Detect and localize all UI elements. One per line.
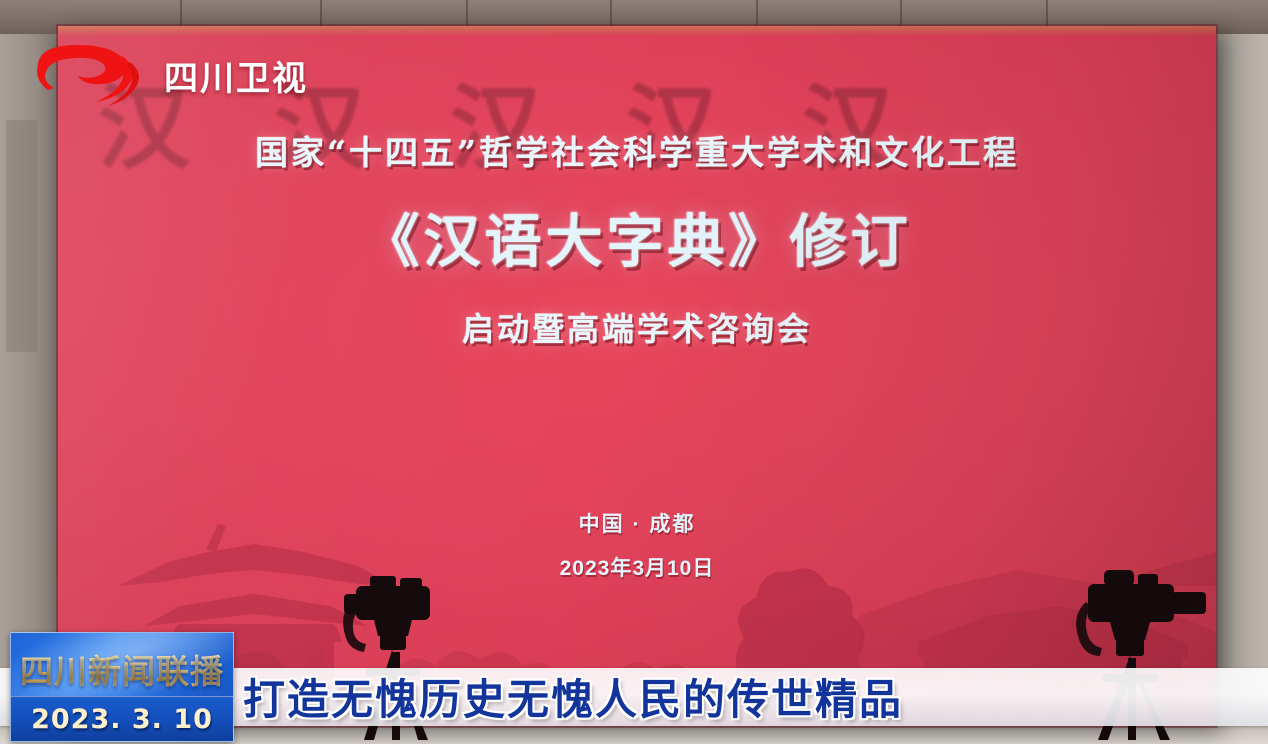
banner-date: 2023年3月10日	[58, 552, 1216, 582]
stage-backdrop-banner: 汉 汉 汉 汉 汉	[58, 26, 1216, 726]
broadcast-date-label: 2023. 3. 10	[31, 704, 213, 735]
channel-name-label: 四川卫视	[164, 51, 308, 100]
broadcast-screenshot: 汉 汉 汉 汉 汉	[0, 0, 1268, 744]
banner-main-title: 《汉语大字典》修订	[58, 196, 1216, 278]
sichuan-tv-swoosh-icon	[26, 40, 154, 106]
right-wall-panel	[1212, 0, 1268, 744]
news-headline: 打造无愧历史无愧人民的传世精品	[243, 666, 903, 727]
banner-meta-block: 中国 · 成都 2023年3月10日	[58, 508, 1216, 582]
program-badge: 四川新闻联播 SICHUAN NEWS 2023. 3. 10	[10, 632, 234, 742]
banner-subtitle: 启动暨高端学术咨询会	[58, 304, 1216, 350]
program-name-label: 四川新闻联播	[11, 645, 233, 693]
badge-date-strip: 2023. 3. 10	[11, 696, 233, 741]
banner-place: 中国 · 成都	[58, 508, 1216, 538]
banner-kicker-line: 国家“十四五”哲学社会科学重大学术和文化工程	[58, 126, 1216, 174]
channel-bug: 四川卫视	[26, 40, 308, 106]
banner-text-block: 国家“十四五”哲学社会科学重大学术和文化工程 《汉语大字典》修订 启动暨高端学术…	[58, 26, 1216, 582]
left-wall-frame	[6, 120, 38, 352]
